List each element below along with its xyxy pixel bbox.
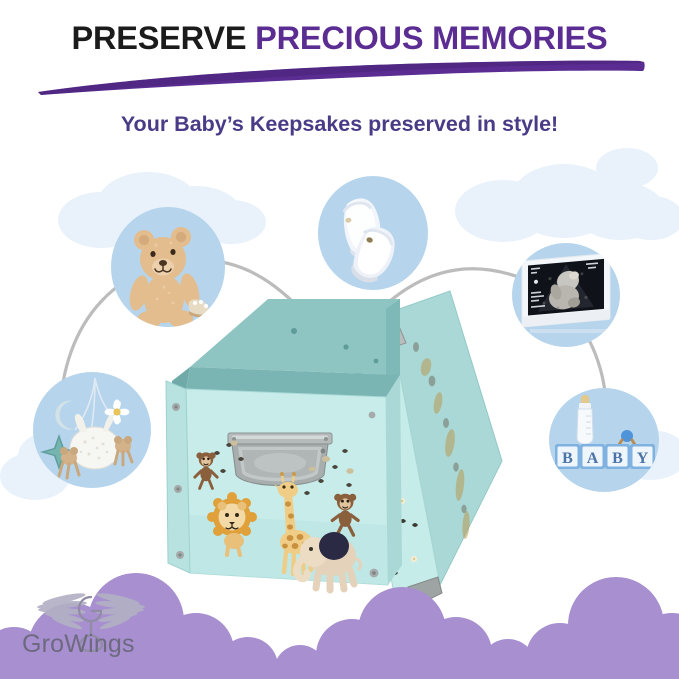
page-title: PRESERVE PRECIOUS MEMORIES xyxy=(0,22,679,55)
svg-text:A: A xyxy=(587,450,599,467)
svg-text:Y: Y xyxy=(637,450,649,467)
brand-logo: GroWings xyxy=(22,583,182,661)
headline-accent: PRECIOUS MEMORIES xyxy=(255,20,607,56)
baby-mobile-icon xyxy=(33,372,151,488)
feature-bubble-shoes xyxy=(318,176,428,290)
box-interior xyxy=(172,299,400,397)
svg-text:B: B xyxy=(612,450,623,467)
swoosh-underline-icon xyxy=(36,58,648,96)
subtitle: Your Baby’s Keepsakes preserved in style… xyxy=(0,114,679,136)
headline-word-preserve: PRESERVE xyxy=(71,20,246,56)
brand-name: GroWings xyxy=(22,632,135,657)
feature-bubble-mobile xyxy=(33,372,151,488)
box-body xyxy=(166,375,402,590)
baby-shoes-icon xyxy=(318,176,428,290)
promo-image-canvas: PRESERVE PRECIOUS MEMORIES Your Baby’s K… xyxy=(0,0,679,679)
block-row: B A B Y xyxy=(555,444,655,469)
